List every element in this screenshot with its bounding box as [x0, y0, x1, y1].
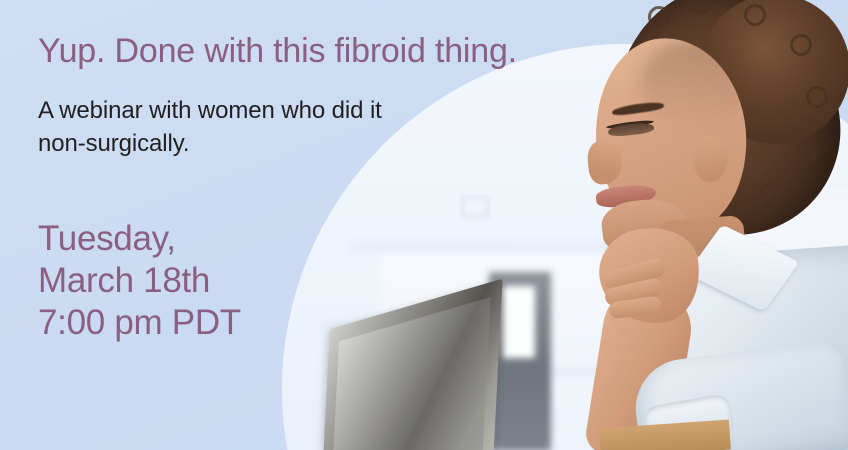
- event-time: 7:00 pm PDT: [38, 302, 241, 344]
- event-date: March 18th: [38, 260, 241, 302]
- text-layer: Yup. Done with this fibroid thing. A web…: [0, 0, 848, 450]
- subheading: A webinar with women who did it non-surg…: [38, 94, 382, 160]
- webinar-banner[interactable]: Yup. Done with this fibroid thing. A web…: [0, 0, 848, 450]
- subheading-line-1: A webinar with women who did it: [38, 97, 382, 124]
- headline: Yup. Done with this fibroid thing.: [38, 30, 517, 72]
- event-datetime: Tuesday, March 18th 7:00 pm PDT: [38, 218, 241, 344]
- subheading-line-2: non-surgically.: [38, 127, 382, 160]
- event-day: Tuesday,: [38, 218, 241, 260]
